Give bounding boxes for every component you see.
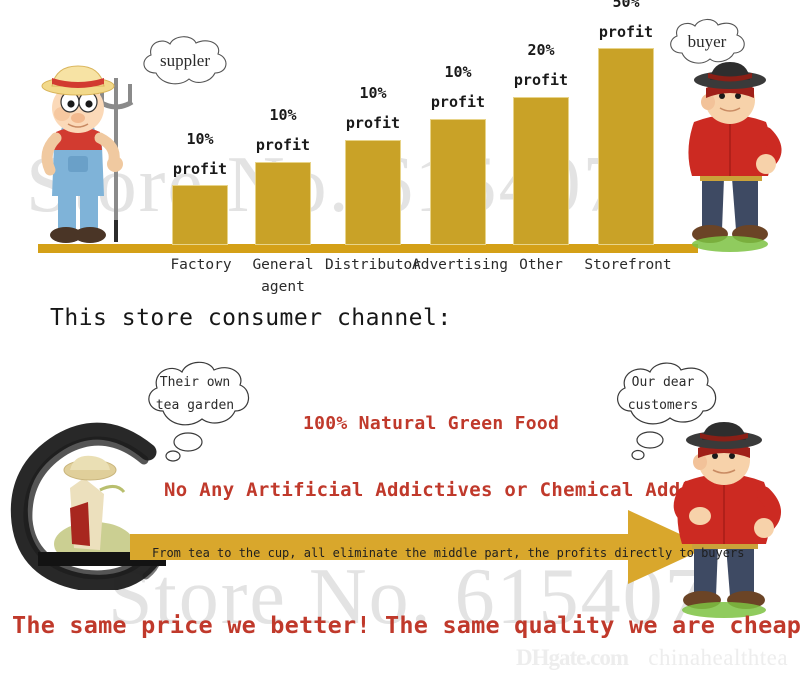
bar-advertising — [430, 119, 486, 245]
supplier-bubble-text: suppler — [160, 46, 210, 77]
tea-picker-figure — [54, 456, 134, 566]
claim-natural-food: 100% Natural Green Food — [303, 413, 559, 434]
category-label-advertising: Advertising — [404, 254, 516, 276]
buyer-illustration-bottom — [660, 420, 792, 620]
bar-value-factory: 10% — [186, 130, 213, 148]
bar-distributor — [345, 140, 401, 245]
channel-heading: This store consumer channel: — [50, 305, 452, 331]
bar-value-general-agent: 10% — [269, 106, 296, 124]
tea-garden-line1: Their own — [160, 375, 230, 390]
tea-garden-line2: tea garden — [156, 398, 234, 413]
bar-value-other: 20% — [527, 41, 554, 59]
bar-other — [513, 97, 569, 245]
arrow-message: From tea to the cup, all eliminate the m… — [152, 546, 662, 560]
bar-word-other: profit — [514, 71, 568, 89]
tea-garden-bubble-text: Their own tea garden — [156, 371, 234, 418]
category-label-other: Other — [505, 254, 577, 276]
customers-bubble-text: Our dear customers — [628, 371, 698, 418]
category-label-general-agent: General agent — [243, 254, 323, 299]
category-label-storefront: Storefront — [578, 254, 678, 276]
bar-word-distributor: profit — [346, 114, 400, 132]
bar-value-storefront: 50% — [612, 0, 639, 11]
footer-watermark: DHgate.com chinahealthtea — [516, 645, 788, 671]
bar-general-agent — [255, 162, 311, 245]
infographic-page: Store No. 615407 10% profit 10% profit 1… — [0, 0, 800, 687]
profit-flow-arrow: From tea to the cup, all eliminate the m… — [130, 508, 710, 586]
bar-value-advertising: 10% — [444, 63, 471, 81]
category-label-general-agent-line1: General — [243, 254, 323, 276]
seller-name-text: chinahealthtea — [648, 645, 788, 670]
bar-word-general-agent: profit — [256, 136, 310, 154]
farmer-illustration — [28, 60, 158, 255]
customers-line2: customers — [628, 398, 698, 413]
buyer-illustration-top — [672, 58, 790, 256]
bar-word-storefront: profit — [599, 23, 653, 41]
customers-line1: Our dear — [632, 375, 695, 390]
tea-garden-bubble-tail — [164, 432, 204, 464]
bar-storefront — [598, 48, 654, 245]
dhgate-logo-text: DHgate.com — [516, 645, 628, 670]
category-label-factory: Factory — [158, 254, 244, 276]
bar-word-advertising: profit — [431, 93, 485, 111]
category-label-general-agent-line2: agent — [243, 276, 323, 298]
buyer-bubble-text: buyer — [688, 27, 727, 58]
bar-value-distributor: 10% — [359, 84, 386, 102]
tea-garden-thought-bubble: Their own tea garden — [139, 357, 251, 431]
store-tagline: The same price we better! The same quali… — [12, 611, 800, 639]
bar-word-factory: profit — [173, 160, 227, 178]
bar-factory — [172, 185, 228, 245]
